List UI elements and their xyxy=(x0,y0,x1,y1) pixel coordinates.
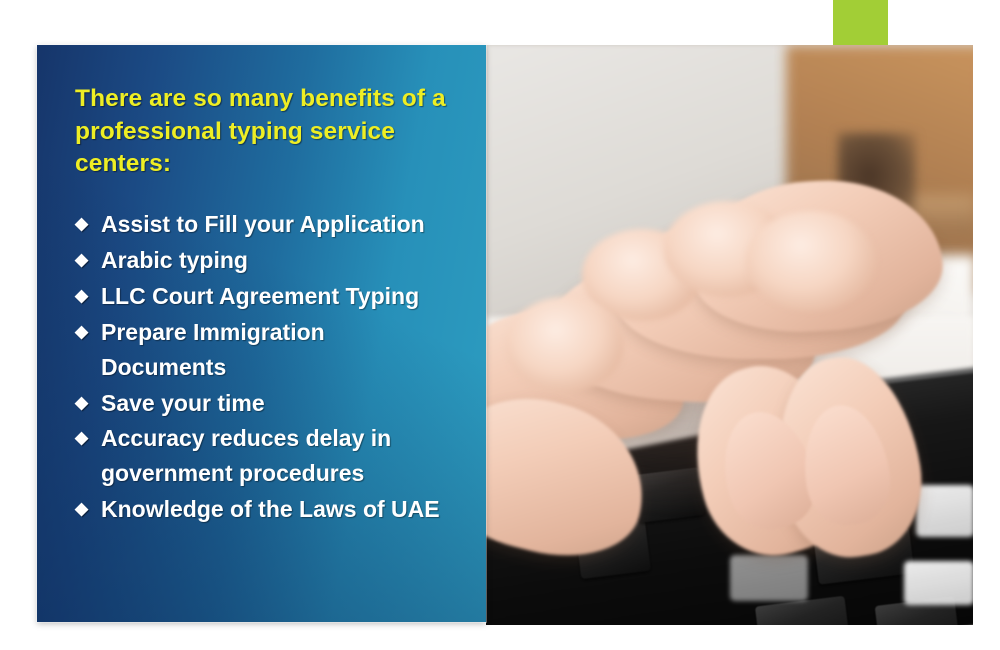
diamond-bullet-icon: ◆ xyxy=(75,279,101,312)
benefits-panel: There are so many benefits of a professi… xyxy=(37,45,486,622)
diamond-bullet-icon: ◆ xyxy=(75,207,101,240)
benefit-label: Knowledge of the Laws of UAE xyxy=(101,492,453,527)
benefit-label: Prepare Immigration Documents xyxy=(101,315,453,385)
benefit-item: ◆ Arabic typing xyxy=(75,243,470,278)
diamond-bullet-icon: ◆ xyxy=(75,386,101,419)
benefits-list: ◆ Assist to Fill your Application ◆ Arab… xyxy=(75,207,470,528)
benefit-item: ◆ Accuracy reduces delay in government p… xyxy=(75,421,470,491)
benefit-item: ◆ LLC Court Agreement Typing xyxy=(75,279,470,314)
panel-heading: There are so many benefits of a professi… xyxy=(75,83,470,181)
benefit-label: Save your time xyxy=(101,386,453,421)
benefit-label: Accuracy reduces delay in government pro… xyxy=(101,421,453,491)
diamond-bullet-icon: ◆ xyxy=(75,315,101,348)
diamond-bullet-icon: ◆ xyxy=(75,421,101,454)
diamond-bullet-icon: ◆ xyxy=(75,492,101,525)
green-accent-bar xyxy=(833,0,888,47)
photo-hand xyxy=(496,165,926,495)
benefit-item: ◆ Knowledge of the Laws of UAE xyxy=(75,492,470,527)
benefit-label: Arabic typing xyxy=(101,243,453,278)
benefit-label: Assist to Fill your Application xyxy=(101,207,453,242)
benefit-item: ◆ Save your time xyxy=(75,386,470,421)
benefit-item: ◆ Prepare Immigration Documents xyxy=(75,315,470,385)
diamond-bullet-icon: ◆ xyxy=(75,243,101,276)
keyboard-typing-photo xyxy=(486,45,973,625)
benefit-item: ◆ Assist to Fill your Application xyxy=(75,207,470,242)
slide-canvas: There are so many benefits of a professi… xyxy=(0,0,1000,650)
benefit-label: LLC Court Agreement Typing xyxy=(101,279,453,314)
photo-key-highlight xyxy=(904,561,973,605)
photo-key-highlight xyxy=(730,555,808,601)
